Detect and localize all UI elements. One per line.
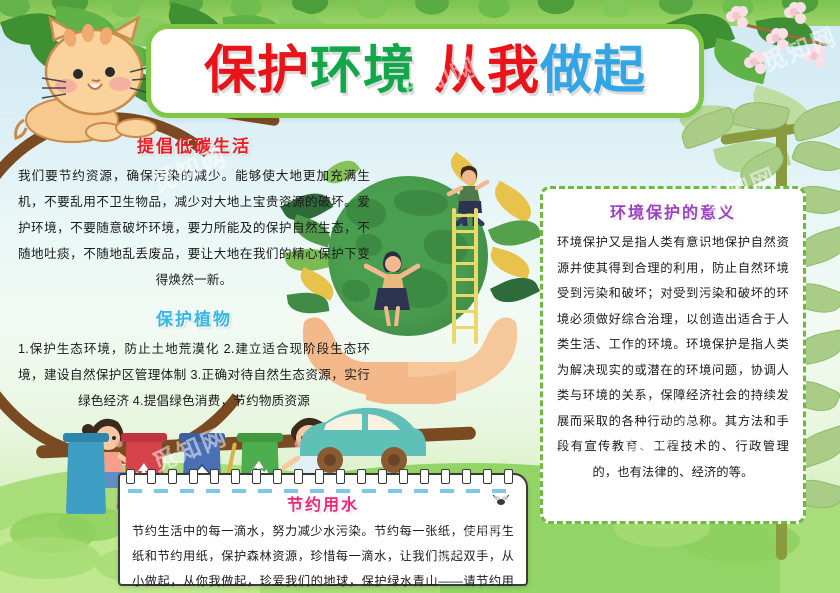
section-body-meaning: 环境保护又是指人类有意识地保护自然资源并使其得到合理的利用，防止自然环境受到污染… (557, 230, 789, 485)
title-banner: 保护环境从我做起 (146, 24, 704, 118)
section-heading-meaning: 环境保护的意义 (557, 199, 789, 223)
notebook-rings (126, 469, 520, 483)
page-title: 保护环境从我做起 (204, 45, 646, 97)
section-heading-save-water: 节约用水 (132, 491, 514, 515)
section-body-low-carbon: 我们要节约资源，确保污染的减少。能够使大地更加充满生机，不要乱用不卫生物品，减少… (18, 163, 370, 293)
notebook-dash-line (128, 489, 518, 493)
poster-canvas: 保护环境从我做起 提倡低碳生活 我们要节约资源，确保污染的减少。能够使大地更加充… (0, 0, 840, 593)
ladder-icon (452, 208, 478, 344)
car-illustration (296, 400, 426, 474)
bin-lid (63, 433, 109, 442)
bin-lid (179, 433, 225, 442)
bee-icon (492, 495, 510, 507)
left-text-column: 提倡低碳生活 我们要节约资源，确保污染的减少。能够使大地更加充满生机，不要乱用不… (18, 132, 370, 414)
save-water-notebook-panel: 节约用水 节约生活中的每一滴水，努力减少水污染。节约每一张纸，使用再生纸和节约用… (118, 473, 528, 586)
bin-lid (121, 433, 167, 442)
cherry-blossom-icon (766, 28, 788, 50)
bin-blue-1 (66, 440, 106, 514)
right-content-panel: 环境保护的意义 环境保护又是指人类有意识地保护自然资源并使其得到合理的利用，防止… (540, 186, 806, 524)
section-heading-protect-plants: 保护植物 (18, 305, 370, 330)
title-part-2: 从我做起 (434, 41, 646, 101)
section-body-save-water: 节约生活中的每一滴水，努力减少水污染。节约每一张纸，使用再生纸和节约用纸，保护森… (132, 519, 514, 593)
cherry-blossom-icon (804, 46, 826, 68)
cherry-blossom-icon (784, 2, 806, 24)
bin-lid (237, 433, 283, 442)
title-part-1: 保护环境 (204, 41, 416, 101)
cherry-blossom-icon (744, 52, 766, 74)
cherry-blossom-icon (726, 6, 748, 28)
